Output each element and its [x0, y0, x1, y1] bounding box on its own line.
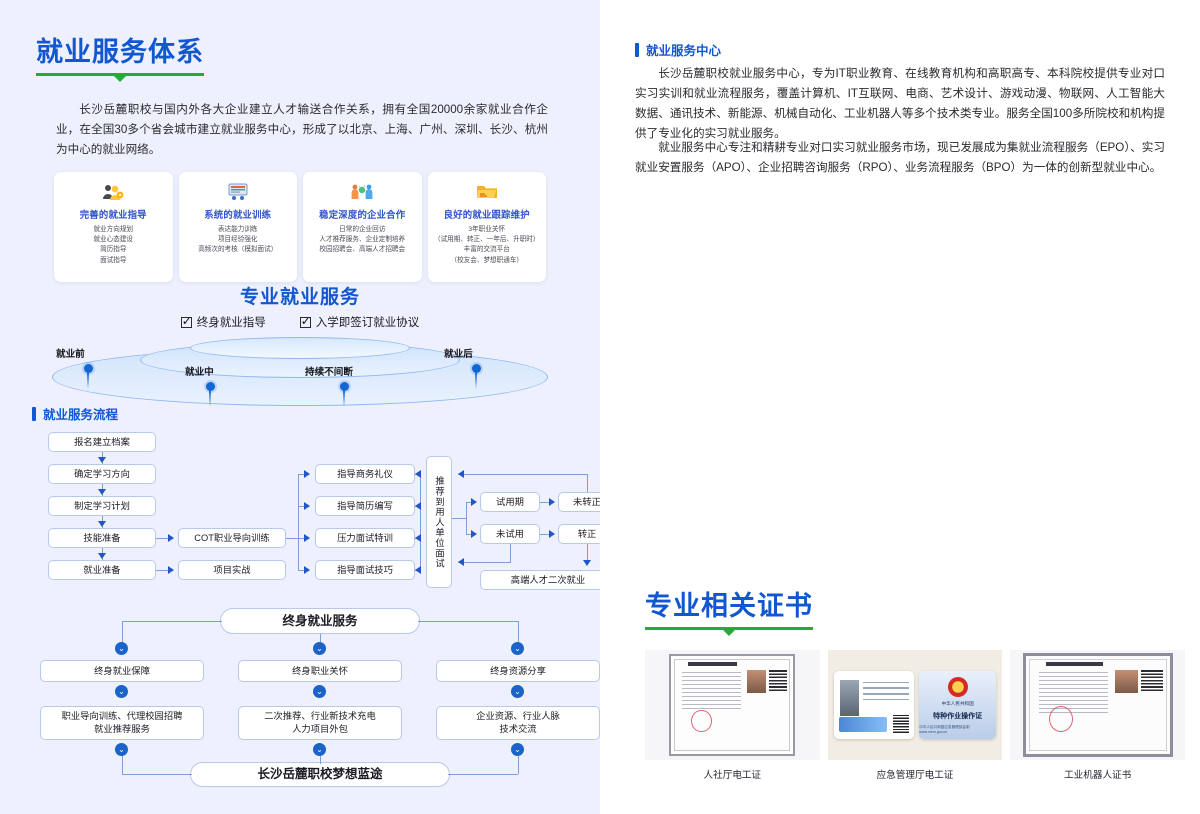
chevron-down-icon: ⌄ — [511, 642, 524, 655]
right-paragraph-1: 长沙岳麓职校就业服务中心，专为IT职业教育、在线教育机构和高职高专、本科院校提供… — [635, 64, 1165, 144]
chevron-down-icon: ⌄ — [313, 642, 326, 655]
red-seal-icon — [1049, 706, 1074, 733]
connector — [122, 756, 123, 774]
feature-card-line: 简历指导 — [58, 245, 169, 255]
feature-card-line: 表达能力训练 — [183, 225, 294, 235]
arrow-right-icon — [168, 566, 174, 574]
check-item: 入学即签订就业协议 — [300, 314, 420, 330]
id-card-band — [839, 717, 887, 732]
certificate-image — [1010, 650, 1185, 760]
stage-pin — [340, 382, 349, 391]
flow-node[interactable]: 指导简历编写 — [315, 496, 415, 516]
feature-card-line: 校园招聘会、高端人才招聘会 — [307, 245, 418, 255]
chevron-down-icon: ⌄ — [115, 685, 128, 698]
feature-card-line: 日常的企业回访 — [307, 225, 418, 235]
flow-node[interactable]: 终身资源分享 — [436, 660, 600, 682]
id-card-back: 中华人民共和国 特种作业操作证 中华人民共和国应急管理部监制 www.mem.g… — [919, 671, 996, 739]
id-card-front — [834, 671, 914, 739]
page-title-text: 就业服务体系 — [36, 38, 204, 68]
arrow-down-icon — [98, 553, 106, 559]
ellipse-inner — [190, 337, 410, 359]
check-label: 入学即签订就业协议 — [316, 314, 420, 330]
flow-node-vertical[interactable]: 推荐到用人单位面试 — [426, 456, 452, 588]
cert-section-title: 专业相关证书 — [645, 592, 813, 630]
feature-card-line: （校友会、梦想职通车） — [432, 256, 543, 266]
arrow-left-icon — [415, 566, 421, 574]
flow-node-footer[interactable]: 长沙岳麓职校梦想蓝途 — [190, 762, 450, 787]
training-board-icon — [183, 181, 294, 203]
flow-node[interactable]: 压力面试特训 — [315, 528, 415, 548]
arrow-right-icon — [304, 502, 310, 510]
id-card-issuer: 中华人民共和国应急管理部监制 www.mem.gov.cn — [919, 725, 996, 734]
accent-bar — [32, 407, 36, 421]
flow-node[interactable]: 试用期 — [480, 492, 540, 512]
flow-node[interactable]: 终身职业关怀 — [238, 660, 402, 682]
stage-pin — [84, 364, 93, 373]
chevron-down-icon: ⌄ — [511, 743, 524, 756]
id-card-country: 中华人民共和国 — [942, 701, 974, 707]
flow-node[interactable]: 职业导向训练、代理校园招聘 就业推荐服务 — [40, 706, 204, 740]
flow-node[interactable]: 终身就业保障 — [40, 660, 204, 682]
page-title: 就业服务体系 — [36, 38, 204, 76]
right-section-head: 就业服务中心 — [635, 40, 721, 59]
portrait-photo — [1115, 670, 1138, 693]
red-seal-icon — [691, 710, 712, 733]
check-label: 终身就业指导 — [197, 314, 266, 330]
cert-title-text: 专业相关证书 — [645, 592, 813, 622]
id-card-rows — [863, 682, 910, 704]
left-intro-paragraph: 长沙岳麓职校与国内外各大企业建立人才输送合作关系，拥有全国20000余家就业合作… — [56, 100, 548, 160]
arrow-right-icon — [304, 534, 310, 542]
flow-node[interactable]: 指导商务礼仪 — [315, 464, 415, 484]
arrow-right-icon — [549, 498, 555, 506]
arrow-left-icon — [415, 534, 421, 542]
flow-node[interactable]: 报名建立档案 — [48, 432, 156, 452]
connector — [122, 621, 222, 622]
arrow-down-icon — [98, 521, 106, 527]
arrow-left-icon — [458, 470, 464, 478]
arrow-right-icon — [471, 498, 477, 506]
chevron-down-icon: ⌄ — [115, 743, 128, 756]
stage-label: 就业前 — [56, 346, 85, 360]
check-item: 终身就业指导 — [181, 314, 266, 330]
certificate-title-bar — [1046, 662, 1104, 666]
cert-title-underline — [645, 627, 813, 630]
professional-service-checks: 终身就业指导 入学即签订就业协议 — [0, 314, 600, 330]
flow-node[interactable]: 就业准备 — [48, 560, 156, 580]
flow-section-label: 就业服务流程 — [43, 404, 118, 423]
professional-service-block: 专业就业服务 终身就业指导 入学即签订就业协议 就业前 就业中 持续不间断 就业… — [0, 282, 600, 402]
chevron-down-icon: ⌄ — [115, 642, 128, 655]
connector — [518, 756, 519, 774]
feature-card[interactable]: 系统的就业训练 表达能力训练 项目经验强化 高频次的考核（模拟面试） — [179, 172, 298, 282]
certificate-item[interactable]: 中华人民共和国 特种作业操作证 中华人民共和国应急管理部监制 www.mem.g… — [828, 650, 1003, 790]
arrow-left-icon — [415, 470, 421, 478]
certificate-caption: 工业机器人证书 — [1064, 767, 1131, 781]
stage-label: 就业后 — [444, 346, 473, 360]
arrow-right-icon — [168, 534, 174, 542]
left-page: 就业服务体系 长沙岳麓职校与国内外各大企业建立人才输送合作关系，拥有全国2000… — [0, 0, 600, 814]
connector — [320, 756, 321, 764]
feature-card-line: 项目经验强化 — [183, 235, 294, 245]
stage-label: 持续不间断 — [305, 364, 353, 378]
feature-card-title: 稳定深度的企业合作 — [307, 207, 418, 221]
arrow-left-icon — [458, 558, 464, 566]
certificate-paper — [669, 654, 795, 755]
chevron-down-icon: ⌄ — [313, 685, 326, 698]
qr-code-icon — [769, 670, 787, 691]
users-icon — [58, 181, 169, 203]
feature-card-line: 人才推荐服务、企业定制培养 — [307, 235, 418, 245]
feature-cards: 完善的就业指导 就业方向规划 就业心态建设 简历指导 面试指导 系统的就业训练 … — [54, 172, 546, 282]
connector — [452, 518, 466, 519]
arrow-right-icon — [304, 566, 310, 574]
flow-node[interactable]: 技能准备 — [48, 528, 156, 548]
accent-bar — [635, 43, 639, 57]
connector — [518, 621, 519, 643]
stage-ellipses: 就业前 就业中 持续不间断 就业后 — [0, 334, 600, 406]
flow-node[interactable]: 未试用 — [480, 524, 540, 544]
handshake-icon — [307, 181, 418, 203]
feature-card-title: 完善的就业指导 — [58, 207, 169, 221]
certificate-caption: 应急管理厅电工证 — [877, 767, 954, 781]
connector — [458, 562, 511, 563]
flow-node[interactable]: COT职业导向训练 — [178, 528, 286, 548]
feature-card-line: （试用期、转正、一年后、升职时） — [432, 235, 543, 245]
chevron-down-icon: ⌄ — [511, 685, 524, 698]
arrow-left-icon — [415, 502, 421, 510]
check-icon — [181, 317, 192, 328]
connector — [466, 502, 467, 534]
certificate-item[interactable]: 人社厅电工证 — [645, 650, 820, 790]
flow-node[interactable]: 高端人才二次就业 — [480, 570, 616, 590]
arrow-right-icon — [471, 530, 477, 538]
connector — [448, 774, 518, 775]
id-card-title: 特种作业操作证 — [933, 711, 982, 721]
professional-service-title: 专业就业服务 — [0, 282, 600, 309]
arrow-down-icon — [98, 457, 106, 463]
arrow-down-icon — [583, 560, 591, 566]
arrow-down-icon — [98, 489, 106, 495]
arrow-right-icon — [304, 470, 310, 478]
feature-card-line: 高频次的考核（模拟面试） — [183, 245, 294, 255]
flow-node[interactable]: 指导面试技巧 — [315, 560, 415, 580]
chevron-down-icon: ⌄ — [313, 743, 326, 756]
stage-pin — [472, 364, 481, 373]
feature-card-line: 就业方向规划 — [58, 225, 169, 235]
certificate-text-lines — [682, 672, 740, 712]
connector — [122, 774, 192, 775]
arrow-right-icon — [549, 530, 555, 538]
connector — [122, 621, 123, 643]
flow-node[interactable]: 企业资源、行业人脉 技术交流 — [436, 706, 600, 740]
title-underline — [36, 73, 204, 76]
connector — [458, 474, 588, 475]
feature-card[interactable]: 稳定深度的企业合作 日常的企业回访 人才推荐服务、企业定制培养 校园招聘会、高端… — [303, 172, 422, 282]
flow-node[interactable]: 确定学习方向 — [48, 464, 156, 484]
connector — [418, 621, 518, 622]
feature-card-line: 就业心态建设 — [58, 235, 169, 245]
employment-flowchart: 报名建立档案 确定学习方向 制定学习计划 技能准备 就业准备 COT职业导向训练… — [30, 432, 575, 787]
check-icon — [300, 317, 311, 328]
feature-card-line: 面试指导 — [58, 256, 169, 266]
right-paragraph-2: 就业服务中心专注和精耕专业对口实习就业服务市场，现已发展成为集就业流程服务（EP… — [635, 138, 1165, 178]
certificate-item[interactable]: 工业机器人证书 — [1010, 650, 1185, 790]
national-emblem-icon — [948, 677, 968, 697]
stage-pin — [206, 382, 215, 391]
flow-node[interactable]: 项目实战 — [178, 560, 286, 580]
feature-card-line: 3年职业关怀 — [432, 225, 543, 235]
flow-node[interactable]: 二次推荐、行业新技术充电 人力项目外包 — [238, 706, 402, 740]
flow-node[interactable]: 制定学习计划 — [48, 496, 156, 516]
certificate-image: 中华人民共和国 特种作业操作证 中华人民共和国应急管理部监制 www.mem.g… — [828, 650, 1003, 760]
connector — [587, 474, 588, 492]
portrait-photo — [840, 680, 859, 715]
certificate-image — [645, 650, 820, 760]
connector — [510, 544, 511, 562]
flow-section-head: 就业服务流程 — [32, 404, 118, 423]
qr-code-icon — [1141, 670, 1163, 691]
feature-card[interactable]: 完善的就业指导 就业方向规划 就业心态建设 简历指导 面试指导 — [54, 172, 173, 282]
flow-node-lifelong[interactable]: 终身就业服务 — [220, 608, 420, 634]
feature-card-title: 系统的就业训练 — [183, 207, 294, 221]
qr-code-icon — [893, 715, 909, 733]
feature-card[interactable]: 良好的就业跟踪维护 3年职业关怀 （试用期、转正、一年后、升职时） 丰富的交流平… — [428, 172, 547, 282]
stage-label: 就业中 — [185, 364, 214, 378]
certificate-caption: 人社厅电工证 — [704, 767, 762, 781]
feature-card-title: 良好的就业跟踪维护 — [432, 207, 543, 221]
certificate-text-lines — [1039, 672, 1108, 716]
certificate-paper — [1023, 653, 1173, 756]
portrait-photo — [747, 670, 766, 693]
feature-card-line: 丰富的交流平台 — [432, 245, 543, 255]
right-page: 就业服务中心 长沙岳麓职校就业服务中心，专为IT职业教育、在线教育机构和高职高专… — [600, 0, 1200, 814]
connector — [420, 474, 421, 570]
folder-icon — [432, 181, 543, 203]
certificate-title-bar — [688, 662, 737, 666]
right-section-label: 就业服务中心 — [646, 40, 721, 59]
connector — [298, 474, 299, 570]
certificates-gallery: 人社厅电工证 中华人民共和国 特种作业操作证 中华人民共和国应急管理部监制 ww… — [645, 650, 1185, 790]
connector — [286, 538, 298, 539]
